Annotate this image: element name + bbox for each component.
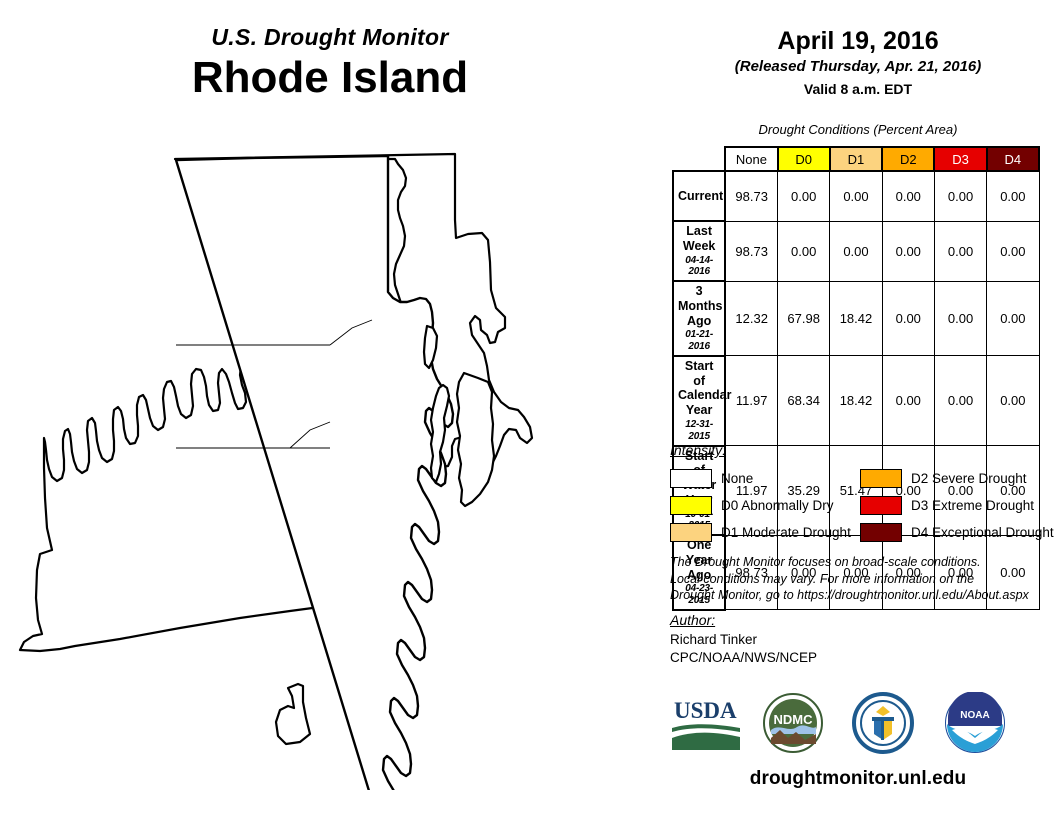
table-row: Start of Calendar Year 12-31-2015 11.97 … (673, 356, 1039, 446)
disclaimer-line-1: The Drought Monitor focuses on broad-sca… (670, 554, 1056, 571)
swatch-d4 (860, 523, 902, 542)
column-header-d2: D2 (882, 147, 934, 171)
row-label-date: 04-14-2016 (678, 255, 720, 279)
cell-d3: 0.00 (934, 281, 986, 356)
row-label-text: 3 Months Ago (678, 284, 722, 328)
cell-d0: 0.00 (778, 171, 830, 221)
legend-label-d2: D2 Severe Drought (911, 471, 1027, 486)
table-row: 3 Months Ago 01-21-2016 12.32 67.98 18.4… (673, 281, 1039, 356)
release-date: (Released Thursday, Apr. 21, 2016) (660, 59, 1056, 76)
disclaimer-line-3[interactable]: Drought Monitor, go to https://droughtmo… (670, 587, 1056, 604)
legend-item-d3: D3 Extreme Drought (860, 496, 1056, 515)
cell-d4: 0.00 (987, 171, 1039, 221)
title-block: U.S. Drought Monitor Rhode Island (0, 26, 660, 101)
cell-d0: 0.00 (778, 221, 830, 281)
row-label-date: 01-21-2016 (678, 329, 720, 353)
noaa-logo-svg: NOAA (940, 692, 1010, 754)
valid-time: Valid 8 a.m. EDT (660, 82, 1056, 97)
column-header-d4: D4 (987, 147, 1039, 171)
legend-item-d0: D0 Abnormally Dry (670, 496, 860, 515)
cell-d4: 0.00 (987, 281, 1039, 356)
table-caption: Drought Conditions (Percent Area) (660, 122, 1056, 137)
cell-none: 12.32 (725, 281, 777, 356)
drought-map[interactable] (0, 130, 660, 790)
cell-d1: 0.00 (830, 221, 882, 281)
usdc-banner (872, 717, 894, 721)
cell-d2: 0.00 (882, 221, 934, 281)
site-url[interactable]: droughtmonitor.unl.edu (660, 768, 1056, 790)
usda-logo: USDA (670, 692, 742, 752)
row-label-start-calendar-year: Start of Calendar Year 12-31-2015 (673, 356, 725, 446)
author-name: Richard Tinker (670, 631, 1056, 649)
legend-label-d4: D4 Exceptional Drought (911, 525, 1054, 540)
swatch-d1 (670, 523, 712, 542)
legend-item-none: None (670, 469, 860, 488)
author-affiliation: CPC/NOAA/NWS/NCEP (670, 649, 1056, 667)
cell-d1: 0.00 (830, 171, 882, 221)
cell-d3: 0.00 (934, 356, 986, 446)
row-label-3-months-ago: 3 Months Ago 01-21-2016 (673, 281, 725, 356)
row-label-last-week: Last Week 04-14-2016 (673, 221, 725, 281)
cell-d2: 0.00 (882, 171, 934, 221)
row-label-text: Start of Calendar Year (678, 359, 732, 417)
table-corner-cell (673, 147, 725, 171)
info-panel: April 19, 2016 (Released Thursday, Apr. … (660, 0, 1056, 816)
cell-d3: 0.00 (934, 171, 986, 221)
usda-logo-text: USDA (674, 698, 737, 723)
ndmc-logo-text: NDMC (774, 712, 814, 727)
program-title: U.S. Drought Monitor (0, 26, 660, 49)
swatch-d2 (860, 469, 902, 488)
intensity-heading: Intensity: (670, 442, 1056, 458)
legend-label-d1: D1 Moderate Drought (721, 525, 851, 540)
author-block: Author: Richard Tinker CPC/NOAA/NWS/NCEP (670, 612, 1056, 667)
cell-none: 98.73 (725, 171, 777, 221)
cell-d4: 0.00 (987, 221, 1039, 281)
disclaimer-line-2: Local conditions may vary. For more info… (670, 571, 1056, 588)
legend-item-d2: D2 Severe Drought (860, 469, 1056, 488)
ndmc-logo-svg: NDMC (760, 692, 826, 754)
legend-label-d0: D0 Abnormally Dry (721, 498, 834, 513)
author-heading: Author: (670, 612, 1056, 628)
usdc-shield-bar (881, 721, 884, 740)
logo-row: USDA NDMC (660, 692, 1056, 762)
usda-swoosh-top (672, 724, 740, 732)
cell-d2: 0.00 (882, 356, 934, 446)
noaa-logo-text: NOAA (960, 710, 989, 721)
cell-none: 98.73 (725, 221, 777, 281)
cell-d3: 0.00 (934, 221, 986, 281)
row-label-date: 12-31-2015 (678, 419, 720, 443)
column-header-d0: D0 (778, 147, 830, 171)
row-label-text: Current (678, 189, 723, 203)
cell-d0: 68.34 (778, 356, 830, 446)
usda-logo-svg: USDA (670, 692, 742, 752)
intensity-legend: Intensity: None D2 Severe Drought D0 Abn… (670, 442, 1056, 546)
table-header-row: None D0 D1 D2 D3 D4 (673, 147, 1039, 171)
cell-d4: 0.00 (987, 356, 1039, 446)
cell-d1: 18.42 (830, 356, 882, 446)
row-label-current: Current (673, 171, 725, 221)
header-block: April 19, 2016 (Released Thursday, Apr. … (660, 28, 1056, 97)
cell-d1: 18.42 (830, 281, 882, 356)
column-header-none: None (725, 147, 777, 171)
swatch-d0 (670, 496, 712, 515)
legend-label-d3: D3 Extreme Drought (911, 498, 1034, 513)
noaa-logo: NOAA (940, 692, 1010, 754)
legend-label-none: None (721, 471, 753, 486)
page-title: Rhode Island (0, 55, 660, 101)
swatch-none (670, 469, 712, 488)
table-row: Current 98.73 0.00 0.00 0.00 0.00 0.00 (673, 171, 1039, 221)
rhode-island-map-svg (0, 130, 660, 790)
cell-d0: 67.98 (778, 281, 830, 356)
ndmc-logo: NDMC (760, 692, 826, 754)
valid-date: April 19, 2016 (660, 28, 1056, 54)
column-header-d3: D3 (934, 147, 986, 171)
aquidneck-island (457, 373, 494, 506)
swatch-d3 (860, 496, 902, 515)
legend-item-d1: D1 Moderate Drought (670, 523, 860, 542)
column-header-d1: D1 (830, 147, 882, 171)
legend-grid: None D2 Severe Drought D0 Abnormally Dry… (670, 465, 1056, 546)
table-row: Last Week 04-14-2016 98.73 0.00 0.00 0.0… (673, 221, 1039, 281)
row-label-text: Last Week (683, 224, 715, 253)
legend-item-d4: D4 Exceptional Drought (860, 523, 1056, 542)
disclaimer: The Drought Monitor focuses on broad-sca… (670, 554, 1056, 604)
usda-field-shape (672, 733, 740, 750)
cell-none: 11.97 (725, 356, 777, 446)
map-panel: U.S. Drought Monitor Rhode Island (0, 0, 660, 816)
usdc-logo (850, 692, 916, 754)
cell-d2: 0.00 (882, 281, 934, 356)
usdc-logo-svg (850, 692, 916, 754)
